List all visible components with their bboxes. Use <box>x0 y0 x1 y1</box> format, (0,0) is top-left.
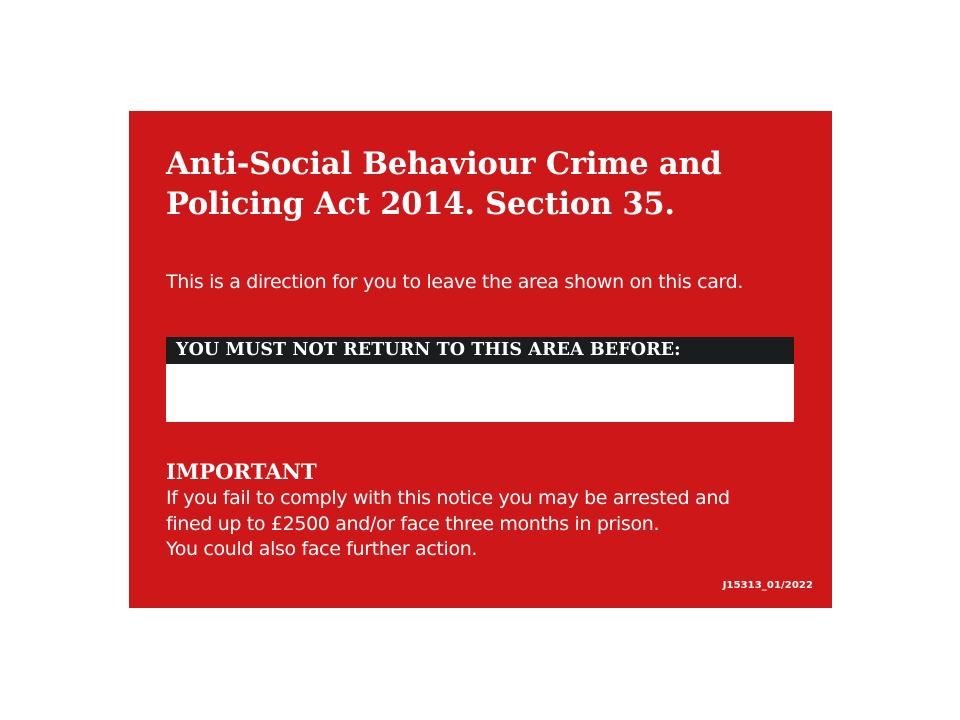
return-restriction-block: YOU MUST NOT RETURN TO THIS AREA BEFORE: <box>166 337 794 422</box>
page-canvas: Anti-Social Behaviour Crime and Policing… <box>0 0 960 720</box>
important-body-text: If you fail to comply with this notice y… <box>166 485 806 563</box>
page-title-line-2: Policing Act 2014. Section 35. <box>166 184 806 224</box>
important-heading: IMPORTANT <box>166 459 806 485</box>
anti-social-behaviour-notice-card: Anti-Social Behaviour Crime and Policing… <box>129 111 832 608</box>
direction-statement: This is a direction for you to leave the… <box>166 269 806 295</box>
important-section: IMPORTANT If you fail to comply with thi… <box>166 459 806 563</box>
page-title: Anti-Social Behaviour Crime and Policing… <box>166 144 806 224</box>
must-not-return-banner: YOU MUST NOT RETURN TO THIS AREA BEFORE: <box>166 337 794 364</box>
page-title-line-1: Anti-Social Behaviour Crime and <box>166 144 806 184</box>
return-date-input[interactable] <box>166 364 794 422</box>
important-body-line-1: If you fail to comply with this notice y… <box>166 486 806 512</box>
reference-code: J15313_01/2022 <box>723 580 813 591</box>
important-body-line-3: You could also face further action. <box>166 537 806 563</box>
important-body-line-2: fined up to £2500 and/or face three mont… <box>166 512 806 538</box>
